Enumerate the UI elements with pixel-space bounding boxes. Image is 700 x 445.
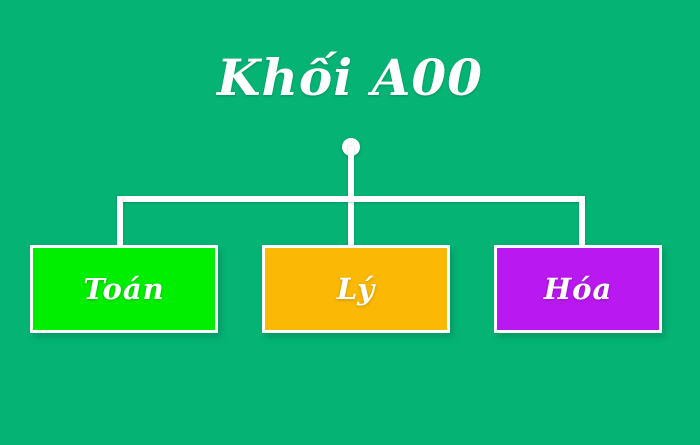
connector-layer: [0, 0, 700, 445]
diagram-canvas: Khối A00 Toán Lý Hóa: [0, 0, 700, 445]
subject-box-toan[interactable]: Toán: [30, 245, 218, 333]
connector-horizontal-bar: [117, 196, 585, 202]
subject-box-hoa[interactable]: Hóa: [494, 245, 662, 333]
subject-box-toan-label: Toán: [83, 272, 164, 306]
subject-box-hoa-label: Hóa: [544, 272, 613, 306]
connector-drop-left: [117, 196, 123, 246]
subject-box-ly[interactable]: Lý: [262, 245, 450, 333]
connector-drop-right: [579, 196, 585, 246]
subject-box-ly-label: Lý: [337, 272, 375, 306]
